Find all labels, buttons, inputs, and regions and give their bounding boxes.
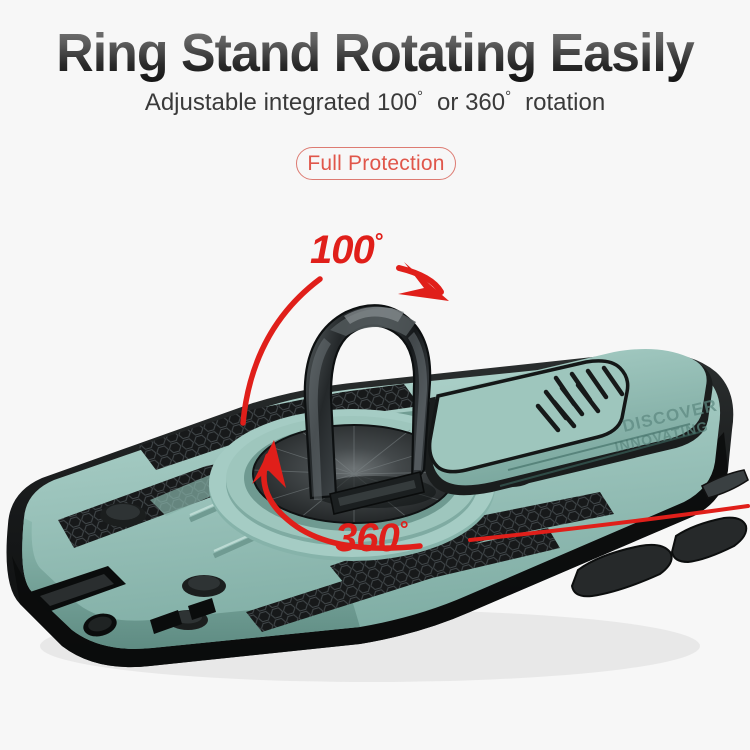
- degree-symbol-2: °: [505, 88, 511, 105]
- subtitle-angle-1: 100: [377, 89, 417, 116]
- page-title: Ring Stand Rotating Easily: [15, 22, 735, 84]
- annotation-label-100: 100°: [310, 230, 382, 270]
- subtitle-middle: or: [437, 89, 465, 116]
- degree-symbol-1: °: [417, 88, 423, 105]
- annotation-100-value: 100: [310, 228, 374, 272]
- product-banner: DISCOVER INNOVATING: [0, 0, 750, 750]
- badge-label: Full Protection: [307, 152, 444, 176]
- annotation-label-360: 360°: [335, 518, 407, 558]
- subtitle-suffix: rotation: [525, 89, 605, 116]
- subtitle-angle-2: 360: [465, 89, 505, 116]
- arc-100-right-segment: [399, 268, 441, 292]
- status-badge: Full Protection: [296, 147, 456, 180]
- annotation-360-degree: °: [399, 517, 407, 542]
- annotation-100-degree: °: [374, 229, 382, 254]
- subtitle-prefix: Adjustable integrated: [145, 89, 377, 116]
- annotation-360-value: 360: [335, 516, 399, 560]
- arc-100-arrowhead: [398, 262, 449, 301]
- page-subtitle: Adjustable integrated 100°or 360°rotatio…: [0, 88, 750, 117]
